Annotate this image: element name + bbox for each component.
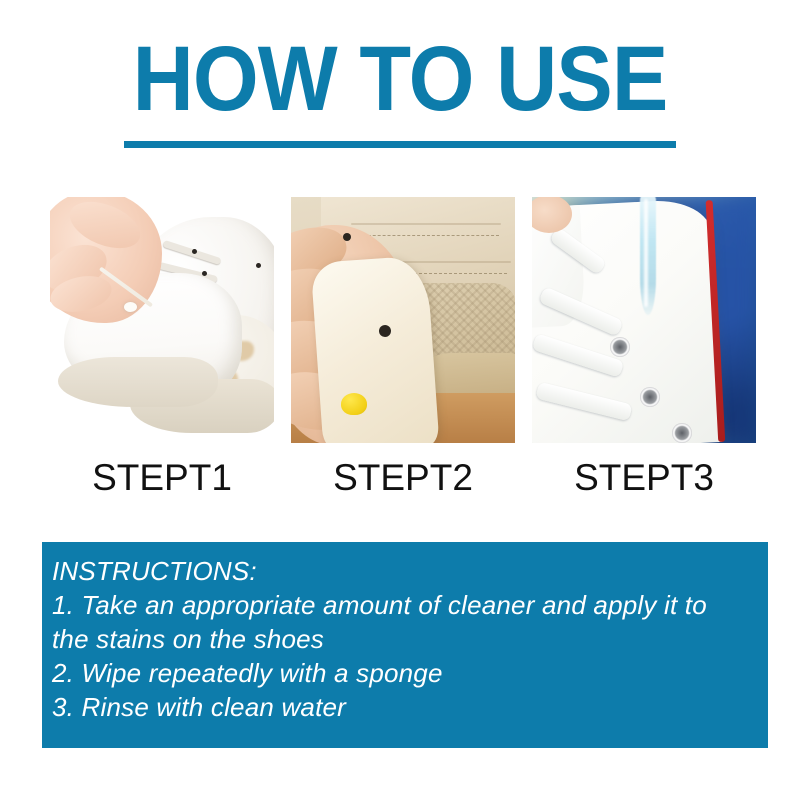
lace-eyelet (640, 387, 660, 407)
eyelet (192, 249, 197, 254)
instruction-line-2: 2. Wipe repeatedly with a sponge (52, 656, 750, 690)
eyelet (256, 263, 261, 268)
cotton-swab-tip (124, 302, 137, 312)
instructions-heading: INSTRUCTIONS: (52, 554, 750, 588)
sneaker-sole-front (58, 357, 218, 407)
step-1: STEPT1 (50, 197, 274, 499)
step-2: STEPT2 (291, 197, 515, 499)
instruction-line-3: 3. Rinse with clean water (52, 690, 750, 724)
lace-eyelet (672, 423, 692, 443)
page-title: HOW TO USE (32, 44, 768, 116)
eyelet (202, 271, 207, 276)
water-highlight (644, 199, 648, 307)
cleaning-sponge (311, 255, 440, 443)
yellow-painted-fingernail (341, 393, 367, 415)
instruction-line-1: 1. Take an appropriate amount of cleaner… (52, 588, 750, 656)
dark-nail-mark (343, 233, 351, 241)
step-1-photo (50, 197, 274, 443)
lace-eyelet (610, 337, 630, 357)
step-3-photo (532, 197, 756, 443)
title-block: HOW TO USE (0, 44, 800, 148)
step-1-label: STEPT1 (50, 457, 274, 499)
shoe-panel-line (351, 223, 501, 225)
title-underline-rule (124, 141, 676, 148)
water-stream (640, 197, 656, 315)
stitching-seam (353, 235, 499, 236)
step-2-label: STEPT2 (291, 457, 515, 499)
dark-nail-mark (379, 325, 391, 337)
step-2-photo (291, 197, 515, 443)
step-3: STEPT3 (532, 197, 756, 499)
step-3-label: STEPT3 (532, 457, 756, 499)
steps-row: STEPT1 (50, 197, 756, 499)
instructions-panel: INSTRUCTIONS: 1. Take an appropriate amo… (42, 542, 768, 748)
how-to-use-infographic: HOW TO USE (0, 0, 800, 800)
